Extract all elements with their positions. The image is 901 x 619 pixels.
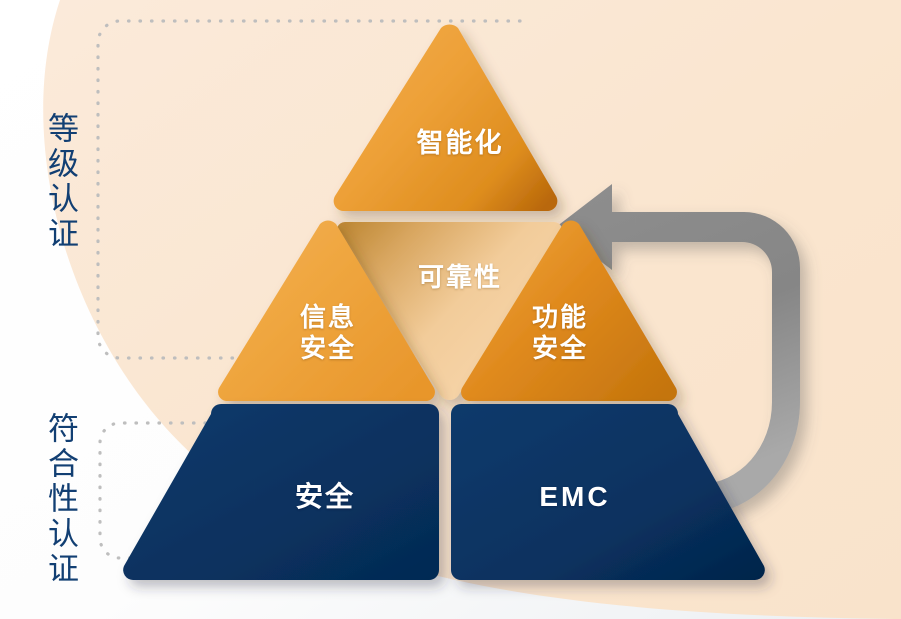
label-reliability: 可靠性 — [380, 262, 540, 293]
label-information-security: 信息 安全 — [248, 302, 408, 363]
diagram-graphics — [0, 0, 901, 619]
diagram-canvas: 等级认证 符合性认证 智能化 信息 安全 可靠性 功能 安全 安全 EMC — [0, 0, 901, 619]
side-label-level: 等级认证 — [45, 112, 76, 252]
side-label-compliance: 符合性认证 — [45, 412, 76, 587]
label-functional-safety: 功能 安全 — [480, 302, 640, 363]
label-safety: 安全 — [245, 480, 405, 513]
label-emc: EMC — [495, 480, 655, 513]
label-intelligence: 智能化 — [380, 128, 540, 160]
